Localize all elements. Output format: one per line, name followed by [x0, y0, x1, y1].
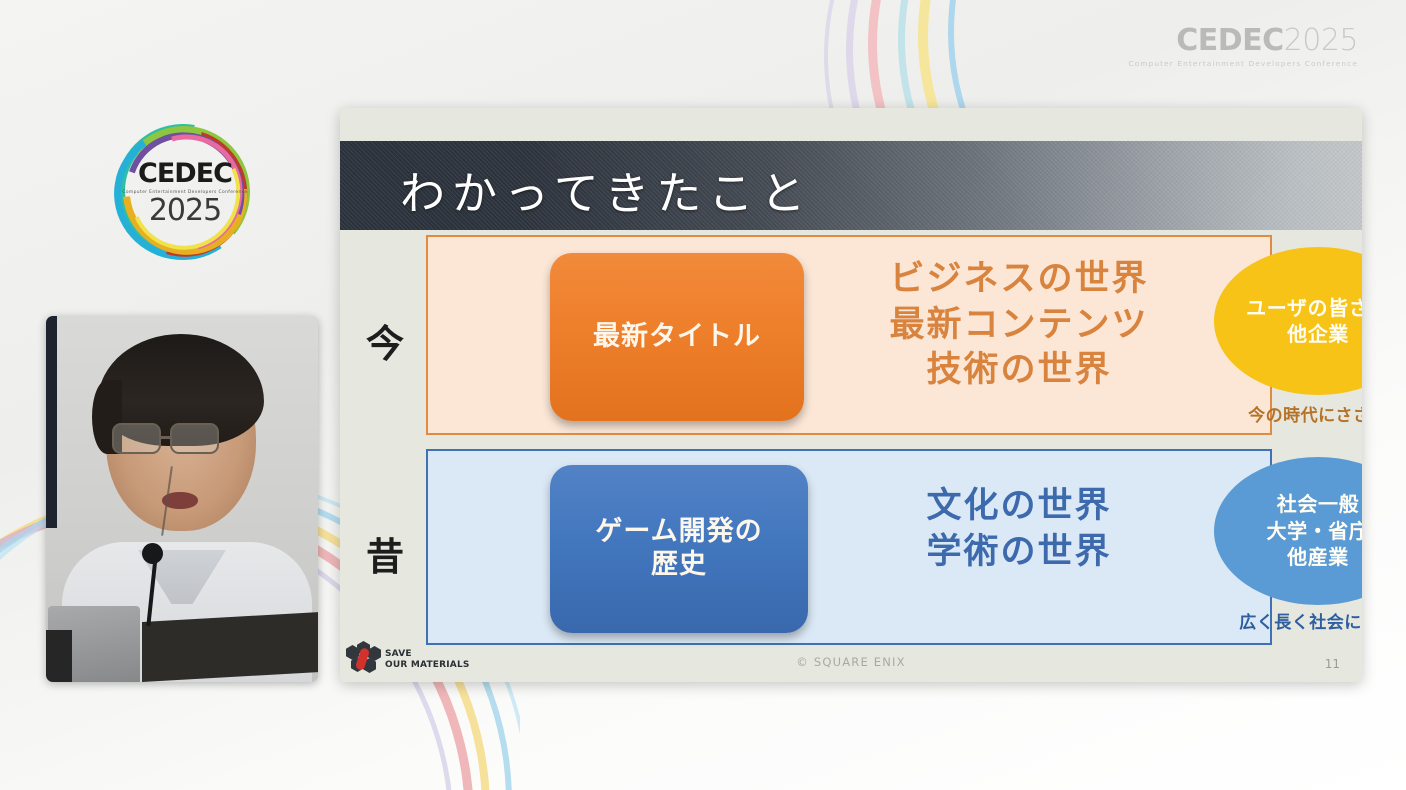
- ellipse-line: 他産業: [1267, 544, 1363, 570]
- laptop-side: [46, 630, 72, 682]
- ellipse-line: 他企業: [1246, 321, 1362, 347]
- speaker-video-thumbnail[interactable]: [46, 316, 318, 682]
- podium-desk: [142, 611, 318, 682]
- pill-past-label: ゲーム開発の 歴史: [595, 516, 762, 582]
- cedec-wordmark-name: CEDEC: [1176, 23, 1283, 58]
- center-line: 最新コンテンツ: [823, 303, 1215, 349]
- cedec-wordmark-year: 2025: [1284, 23, 1358, 58]
- panel-now: 最新タイトル ビジネスの世界 最新コンテンツ 技術の世界 ユーザの皆さま 他企業…: [426, 235, 1272, 435]
- ellipse-line: 大学・省庁: [1267, 518, 1363, 544]
- ellipse-caption-now: 今の時代にささる: [1203, 401, 1362, 426]
- slide-title: わかってきたこと: [400, 157, 812, 222]
- slide-page-number: 11: [1325, 657, 1340, 671]
- center-line: ビジネスの世界: [823, 257, 1215, 303]
- cedec-wordmark: CEDEC2025 Computer Entertainment Develop…: [1128, 26, 1358, 68]
- presentation-slide[interactable]: わかってきたこと 今 最新タイトル ビジネスの世界 最新コンテンツ 技術の世界 …: [340, 108, 1362, 682]
- audience-ellipse-past: 社会一般 大学・省庁 他産業: [1214, 457, 1362, 605]
- ellipse-caption-past: 広く長く社会に受容: [1203, 608, 1362, 633]
- era-label-past: 昔: [348, 526, 422, 581]
- audience-ellipse-now: ユーザの皆さま 他企業: [1214, 247, 1362, 395]
- copyright-notice: © SQUARE ENIX: [340, 655, 1362, 669]
- microphone-head-icon: [142, 543, 163, 564]
- cedec-ring-logo: CEDEC Computer Entertainment Developers …: [114, 128, 256, 256]
- pill-past[interactable]: ゲーム開発の 歴史: [550, 465, 808, 633]
- ellipse-line: 社会一般: [1267, 491, 1363, 517]
- center-text-past: 文化の世界 学術の世界: [823, 484, 1215, 575]
- center-line: 学術の世界: [823, 530, 1215, 576]
- cedec-ring-year: 2025: [114, 193, 256, 228]
- slide-footer: SAVE OUR MATERIALS © SQUARE ENIX 11: [340, 644, 1362, 682]
- ellipse-line: ユーザの皆さま: [1246, 295, 1362, 321]
- era-label-now: 今: [348, 313, 422, 368]
- speaker-glasses-left: [112, 423, 161, 454]
- pill-now[interactable]: 最新タイトル: [550, 253, 804, 421]
- video-dark-edge: [46, 316, 57, 528]
- speaker-glasses-bridge: [161, 436, 170, 439]
- center-line: 技術の世界: [823, 348, 1215, 394]
- speaker-glasses-right: [170, 423, 219, 454]
- pill-now-label: 最新タイトル: [593, 321, 761, 354]
- center-line: 文化の世界: [823, 484, 1215, 530]
- center-text-now: ビジネスの世界 最新コンテンツ 技術の世界: [823, 257, 1215, 394]
- cedec-wordmark-tagline: Computer Entertainment Developers Confer…: [1128, 59, 1358, 68]
- cedec-ring-name: CEDEC: [114, 158, 256, 189]
- panel-past: ゲーム開発の 歴史 文化の世界 学術の世界 社会一般 大学・省庁 他産業 広く長…: [426, 449, 1272, 645]
